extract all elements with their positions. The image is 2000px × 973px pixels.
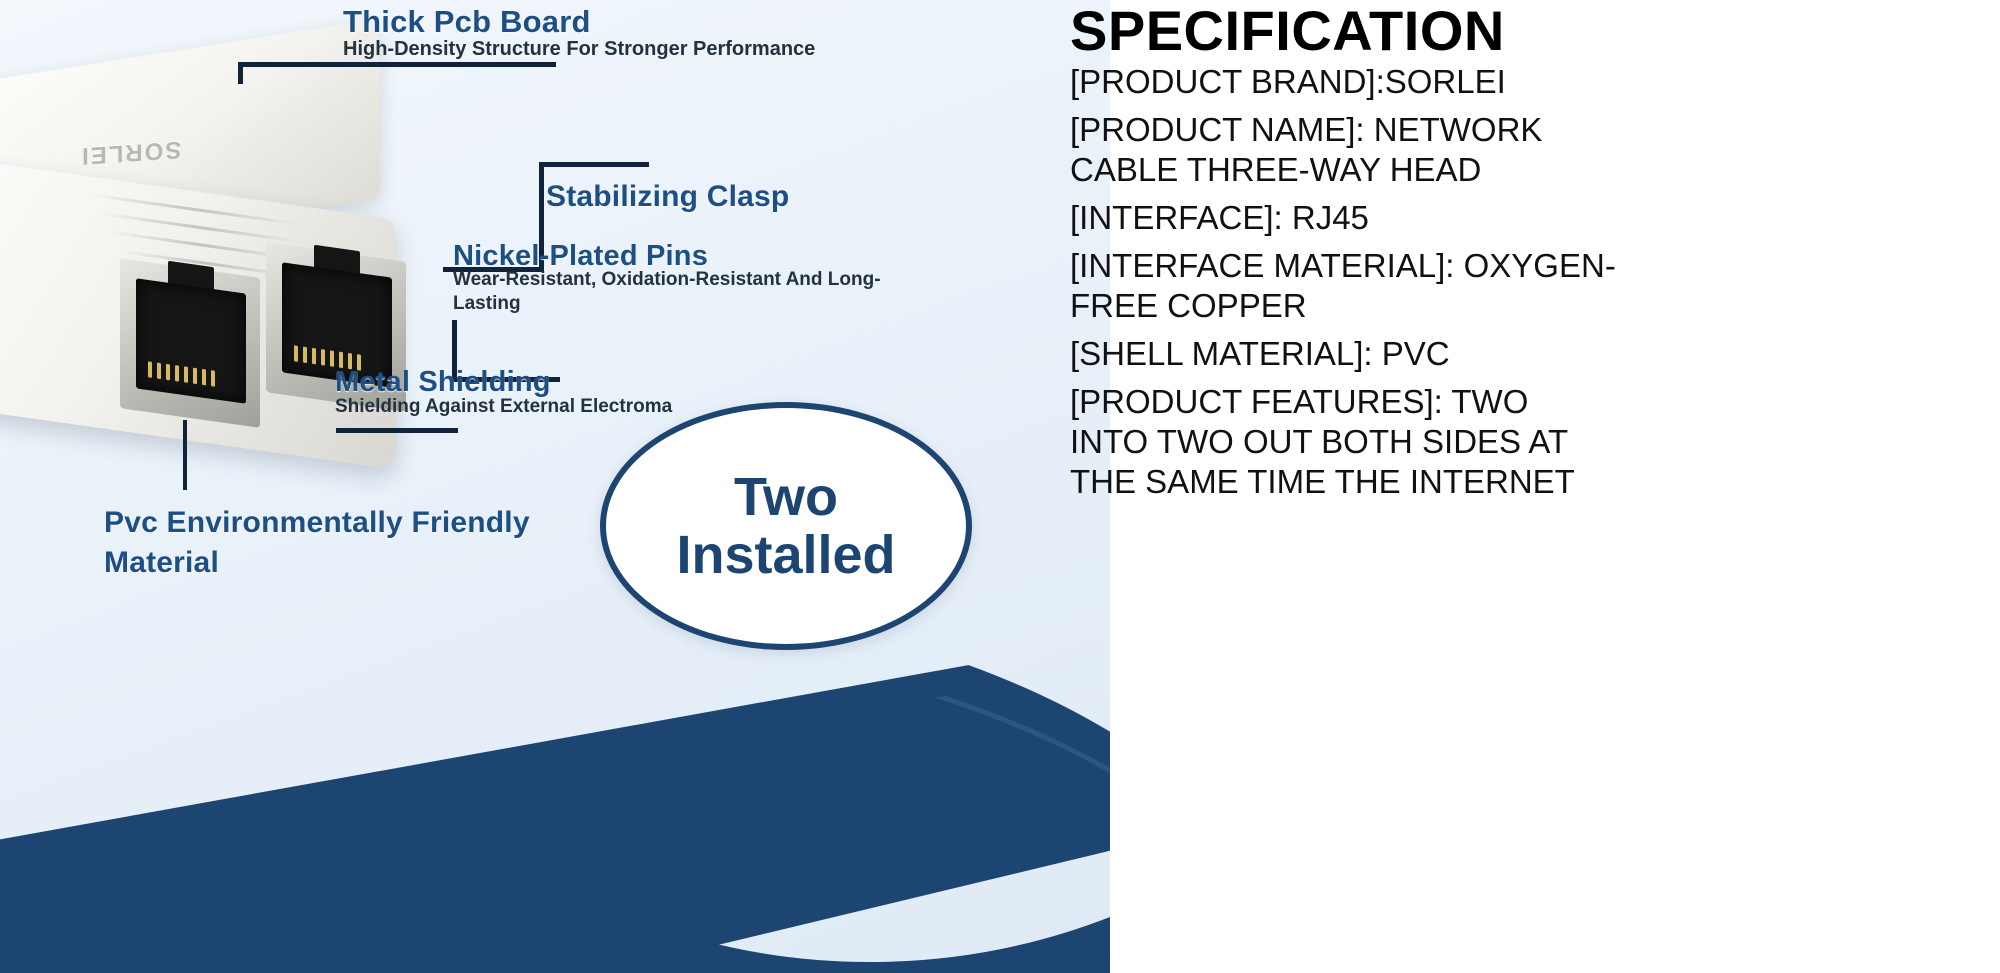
callout-tick-thick-pcb — [238, 62, 243, 84]
specification-panel: SPECIFICATION [PRODUCT BRAND]:SORLEI [PR… — [1110, 0, 2000, 973]
rj45-port-left — [136, 278, 246, 403]
spec-item-interface-material: [INTERFACE MATERIAL]: OXYGEN- FREE COPPE… — [1070, 246, 1930, 326]
spec-item-interface: [INTERFACE]: RJ45 — [1070, 198, 1930, 238]
product-photo-rj45-splitter: SORLEI — [0, 40, 490, 560]
spec-item-product-name: [PRODUCT NAME]: NETWORK CABLE THREE-WAY … — [1070, 110, 1930, 190]
callout-line-pvc-vertical — [183, 420, 187, 490]
spec-item-product-features: [PRODUCT FEATURES]: TWO INTO TWO OUT BOT… — [1070, 382, 1930, 502]
feature-title-pvc-material: Pvc Environmentally Friendly Material — [104, 503, 604, 583]
badge-text: TwoInstalled — [676, 468, 895, 584]
feature-subtitle-nickel-plated-pins: Wear-Resistant, Oxidation-Resistant And … — [453, 268, 923, 316]
specification-list: [PRODUCT BRAND]:SORLEI [PRODUCT NAME]: N… — [1070, 62, 1930, 510]
badge-line-2: Installed — [676, 525, 895, 585]
callout-line-thick-pcb — [238, 62, 556, 67]
feature-subtitle-metal-shielding: Shielding Against External Electroma — [335, 396, 710, 418]
feature-title-stabilizing-clasp: Stabilizing Clasp — [546, 180, 789, 214]
two-installed-badge: TwoInstalled — [600, 402, 972, 650]
feature-title-metal-shielding: Metal Shielding — [335, 366, 551, 399]
badge-line-1: Two — [734, 467, 838, 527]
feature-subtitle-thick-pcb-board: High-Density Structure For Stronger Perf… — [343, 38, 815, 61]
specification-heading: SPECIFICATION — [1070, 0, 1505, 63]
callout-line-metal-underline — [336, 428, 458, 433]
feature-title-thick-pcb-board: Thick Pcb Board — [343, 4, 591, 40]
spec-item-product-brand: [PRODUCT BRAND]:SORLEI — [1070, 62, 1930, 102]
callout-line-clasp-top — [539, 162, 649, 167]
spec-item-shell-material: [SHELL MATERIAL]: PVC — [1070, 334, 1930, 374]
